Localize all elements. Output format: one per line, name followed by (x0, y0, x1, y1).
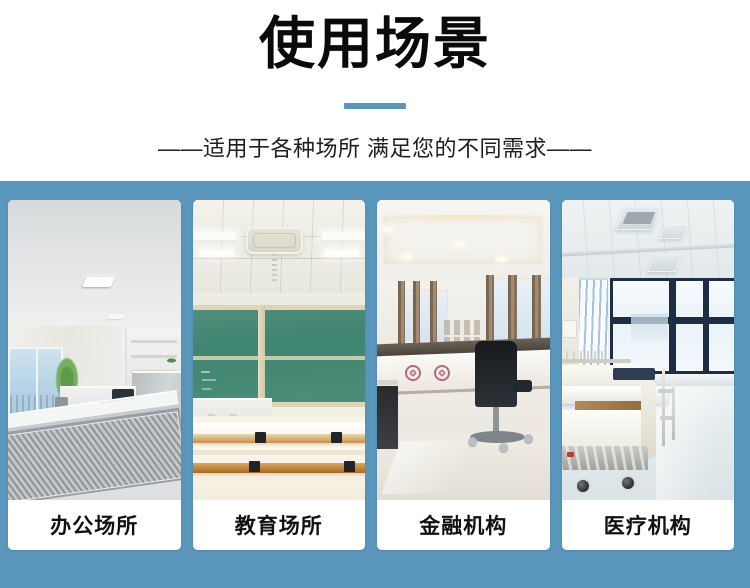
classroom-desk-edge-3 (193, 480, 366, 488)
classroom-desk-edge-1 (193, 423, 366, 428)
office-led-panel-light (81, 277, 115, 287)
office-photo (8, 200, 181, 500)
classroom-fluorescent-tube-right-2 (323, 250, 359, 257)
bank-office-chair (475, 341, 516, 407)
scenario-card-rail: 办公场所 (8, 200, 742, 550)
bank-chair-base (470, 431, 525, 443)
classroom-fluorescent-tube-left-2 (199, 250, 235, 257)
classroom-desk-row-2 (193, 463, 366, 473)
section-header: 使用场景 ——适用于各种场所 满足您的不同需求—— (0, 0, 750, 181)
classroom-desk-fitting (331, 432, 342, 443)
classroom-seating-tiers (193, 416, 366, 500)
bank-window (418, 290, 430, 341)
office-led-panel-light-distant (107, 314, 125, 319)
hospital-bed-rail-rear (562, 359, 631, 363)
hospital-exterior-building (631, 314, 669, 341)
classroom-fluorescent-tube-right (321, 233, 365, 240)
bank-curtain (398, 281, 405, 347)
scenario-card-finance[interactable]: 金融机构 (377, 200, 550, 550)
scenario-card-caption: 医疗机构 (562, 500, 735, 550)
scenario-card-caption: 教育场所 (193, 500, 366, 550)
classroom-chalk-writing (201, 368, 239, 395)
classroom-desk-fitting (255, 432, 266, 443)
hospital-photo (562, 200, 735, 500)
classroom-desk-row-1 (193, 434, 366, 443)
page-title: 使用场景 (0, 13, 750, 75)
classroom-photo (193, 200, 366, 500)
bank-counter-signage (444, 320, 482, 335)
scenario-card-caption: 办公场所 (8, 500, 181, 550)
bank-chair-armrest (513, 380, 532, 392)
scenario-card-medical[interactable]: 医疗机构 (562, 200, 735, 550)
hospital-iv-pole (662, 368, 665, 446)
bank-window (515, 278, 534, 344)
classroom-ceiling-air-conditioner (246, 227, 303, 254)
page-subtitle: ——适用于各种场所 满足您的不同需求—— (0, 131, 750, 163)
hospital-bed-bracket (660, 416, 672, 420)
classroom-desk-edge-2 (193, 450, 366, 455)
bank-chair-post (493, 407, 500, 434)
classroom-fluorescent-tube-left (193, 233, 237, 240)
hospital-bed-tray (613, 368, 654, 380)
hospital-bed-release-lever (567, 452, 574, 457)
bank-photo (377, 200, 550, 500)
bank-downlight (453, 242, 464, 247)
use-case-section: 使用场景 ——适用于各种场所 满足您的不同需求—— (0, 0, 750, 588)
scenario-card-office[interactable]: 办公场所 (8, 200, 181, 550)
bank-curtain (413, 281, 420, 347)
hospital-wall-panel (562, 320, 578, 338)
bank-curtain (532, 275, 541, 347)
bank-floor (377, 434, 550, 500)
scenario-card-caption: 金融机构 (377, 500, 550, 550)
title-underline-rule (344, 103, 406, 109)
hospital-window-mullion (703, 278, 709, 374)
hospital-bed-bracket (658, 389, 674, 393)
classroom-projector-hanger (272, 254, 277, 284)
bank-curtain (508, 275, 517, 347)
bank-curtain (430, 281, 437, 347)
bank-curtain (486, 275, 495, 347)
scenario-card-education[interactable]: 教育场所 (193, 200, 366, 550)
hospital-bed-frame (562, 446, 648, 470)
bank-side-cabinet (377, 386, 398, 449)
classroom-desk-fitting (249, 461, 260, 472)
bank-chair-caster (524, 434, 533, 443)
office-shelf-plant (166, 358, 178, 363)
classroom-desk-fitting (344, 461, 355, 472)
scenario-panel: 办公场所 (0, 181, 750, 588)
hospital-bed-mattress (562, 410, 652, 446)
bank-downlight (496, 257, 507, 262)
